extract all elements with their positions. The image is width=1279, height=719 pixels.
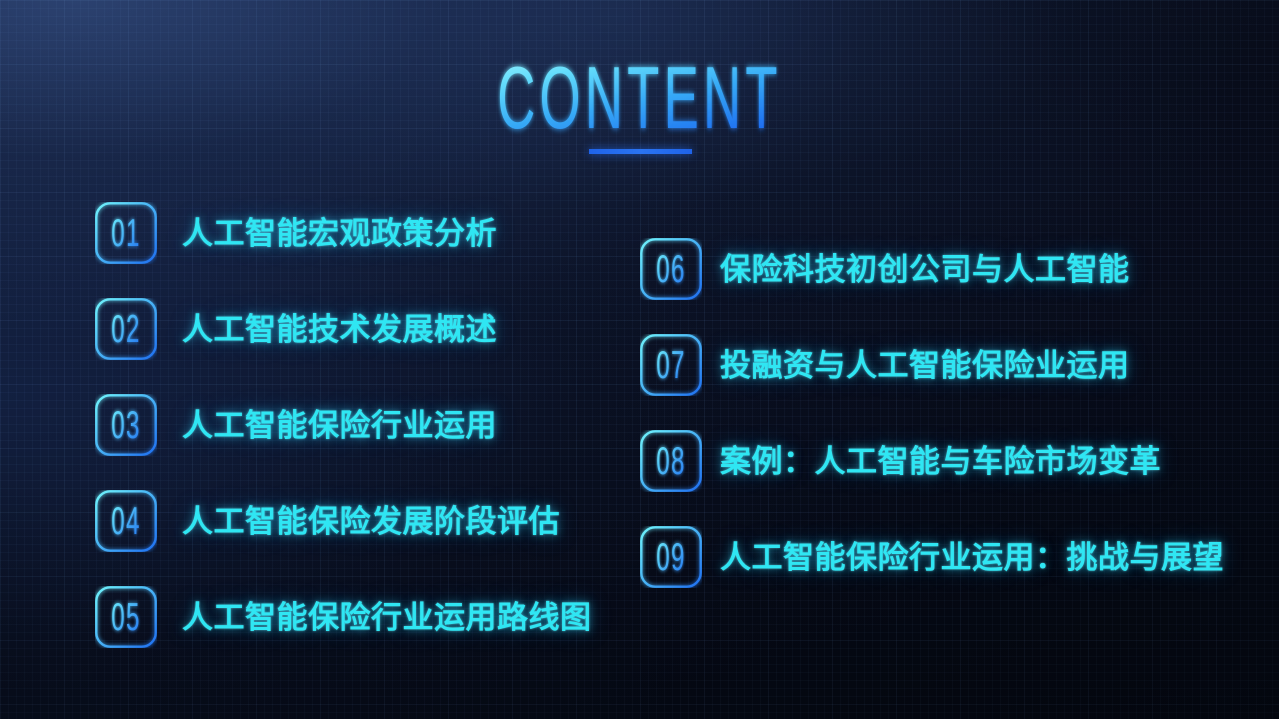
item-number-badge: 04 <box>95 490 157 552</box>
list-item-label: 人工智能技术发展概述 <box>182 314 497 345</box>
badge-number: 08 <box>656 439 685 482</box>
list-item[interactable]: 05 人工智能保险行业运用路线图 <box>95 586 592 648</box>
badge-number: 01 <box>111 211 140 254</box>
item-number-badge: 08 <box>640 430 702 492</box>
badge-number: 06 <box>656 247 685 290</box>
list-item[interactable]: 01 人工智能宏观政策分析 <box>95 202 592 264</box>
title-underline <box>589 149 692 154</box>
list-item[interactable]: 04 人工智能保险发展阶段评估 <box>95 490 592 552</box>
list-item[interactable]: 06 保险科技初创公司与人工智能 <box>640 238 1224 300</box>
list-item-label: 人工智能保险行业运用：挑战与展望 <box>720 542 1224 573</box>
badge-number: 03 <box>111 403 140 446</box>
item-number-badge: 03 <box>95 394 157 456</box>
list-item-label: 投融资与人工智能保险业运用 <box>720 350 1130 381</box>
list-item-label: 人工智能保险行业运用路线图 <box>182 602 592 633</box>
presentation-slide: CONTENT <box>0 0 1279 719</box>
badge-icon: 07 <box>640 334 702 396</box>
item-number-badge: 05 <box>95 586 157 648</box>
page-title-graphic: CONTENT <box>0 52 1279 148</box>
item-number-badge: 02 <box>95 298 157 360</box>
list-item[interactable]: 08 案例：人工智能与车险市场变革 <box>640 430 1224 492</box>
badge-icon: 08 <box>640 430 702 492</box>
badge-icon: 03 <box>95 394 157 456</box>
list-item[interactable]: 02 人工智能技术发展概述 <box>95 298 592 360</box>
page-title: CONTENT <box>0 52 1279 148</box>
badge-number: 02 <box>111 307 140 350</box>
list-item-label: 保险科技初创公司与人工智能 <box>720 254 1130 285</box>
badge-icon: 06 <box>640 238 702 300</box>
badge-icon: 01 <box>95 202 157 264</box>
list-item[interactable]: 09 人工智能保险行业运用：挑战与展望 <box>640 526 1224 588</box>
list-item-label: 案例：人工智能与车险市场变革 <box>720 446 1161 477</box>
toc-column-right: 06 保险科技初创公司与人工智能 07 投融资与人工智能保险业运用 <box>640 238 1224 588</box>
badge-icon: 05 <box>95 586 157 648</box>
badge-number: 07 <box>656 343 685 386</box>
item-number-badge: 01 <box>95 202 157 264</box>
page-title-text: CONTENT <box>497 52 782 147</box>
list-item-label: 人工智能保险发展阶段评估 <box>182 506 560 537</box>
list-item-label: 人工智能保险行业运用 <box>182 410 497 441</box>
item-number-badge: 09 <box>640 526 702 588</box>
badge-number: 09 <box>656 535 685 578</box>
badge-icon: 09 <box>640 526 702 588</box>
toc-column-left: 01 人工智能宏观政策分析 02 人工智能技术发展概述 <box>95 202 592 648</box>
list-item-label: 人工智能宏观政策分析 <box>182 218 497 249</box>
item-number-badge: 06 <box>640 238 702 300</box>
item-number-badge: 07 <box>640 334 702 396</box>
list-item[interactable]: 03 人工智能保险行业运用 <box>95 394 592 456</box>
badge-icon: 04 <box>95 490 157 552</box>
badge-number: 05 <box>111 595 140 638</box>
badge-icon: 02 <box>95 298 157 360</box>
list-item[interactable]: 07 投融资与人工智能保险业运用 <box>640 334 1224 396</box>
badge-number: 04 <box>111 499 140 542</box>
